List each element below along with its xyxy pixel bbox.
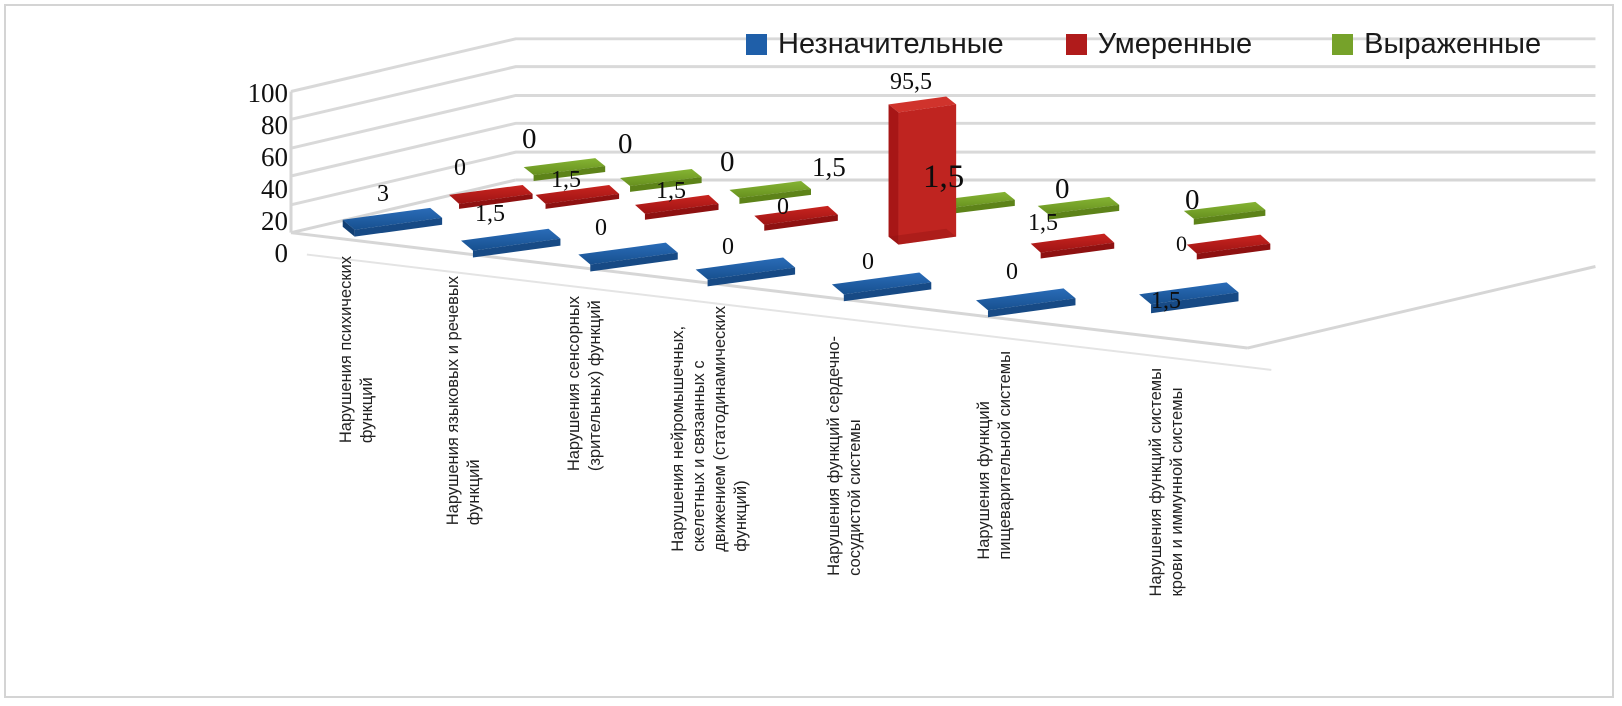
data-value-label: 0 bbox=[1176, 233, 1187, 255]
category-label-6: Нарушения функций системыкрови и иммунно… bbox=[1146, 368, 1188, 597]
y-tick-3: 40 bbox=[202, 176, 288, 203]
legend-item-0[interactable]: Незначительные bbox=[746, 30, 1004, 59]
data-value-label: 1,5 bbox=[475, 202, 505, 226]
category-label-0: Нарушения психическихфункций bbox=[336, 256, 378, 443]
data-value-label: 0 bbox=[522, 125, 537, 154]
y-tick-4: 20 bbox=[202, 208, 288, 235]
bar-c7-red bbox=[1187, 235, 1271, 260]
data-value-label: 0 bbox=[1006, 260, 1018, 284]
data-value-label: 0 bbox=[454, 156, 466, 180]
data-value-label: 0 bbox=[720, 148, 735, 177]
data-value-label: 1,5 bbox=[656, 179, 686, 203]
legend-item-2[interactable]: Выраженные bbox=[1332, 30, 1541, 59]
legend-item-1[interactable]: Умеренные bbox=[1066, 30, 1252, 59]
data-value-label: 1,5 bbox=[1151, 289, 1181, 313]
category-label-line: Нарушения психических bbox=[336, 256, 357, 443]
category-label-line: Нарушения сенсорных bbox=[564, 296, 585, 471]
category-label-4: Нарушения функций сердечно-сосудистой си… bbox=[824, 336, 866, 576]
category-label-line: функций bbox=[464, 276, 485, 525]
bar-c2-blue bbox=[461, 229, 560, 258]
legend-swatch-icon-2 bbox=[1332, 34, 1353, 55]
data-value-label: 95,5 bbox=[890, 70, 932, 94]
legend-swatch-icon-1 bbox=[1066, 34, 1087, 55]
category-label-line: Нарушения функций bbox=[974, 351, 995, 560]
bar-c1-blue bbox=[343, 208, 442, 237]
data-value-label: 0 bbox=[722, 235, 734, 259]
category-label-3: Нарушения нейромышечных,скелетных и связ… bbox=[668, 306, 752, 552]
data-value-label: 0 bbox=[618, 130, 633, 159]
category-label-line: пищеварительной системы bbox=[995, 351, 1016, 560]
category-label-line: движением (статодинамических bbox=[710, 306, 731, 552]
category-label-line: Нарушения функций системы bbox=[1146, 368, 1167, 597]
category-label-5: Нарушения функцийпищеварительной системы bbox=[974, 351, 1016, 560]
legend-label-0: Незначительные bbox=[778, 30, 1004, 59]
y-tick-2: 60 bbox=[202, 144, 288, 171]
category-label-line: функций bbox=[357, 256, 378, 443]
bar-c6-blue bbox=[976, 288, 1075, 317]
category-label-line: (зрительных) функций bbox=[585, 296, 606, 471]
bar-c3-blue bbox=[578, 243, 677, 272]
data-value-label: 0 bbox=[1055, 175, 1070, 204]
data-value-label: 0 bbox=[777, 195, 789, 219]
data-value-label: 1,5 bbox=[551, 168, 581, 192]
bar-c6-red bbox=[1031, 234, 1115, 259]
data-value-label: 1,5 bbox=[1028, 211, 1058, 235]
category-label-2: Нарушения сенсорных(зрительных) функций bbox=[564, 296, 606, 471]
bar-c4-blue bbox=[696, 258, 795, 287]
data-value-label: 0 bbox=[862, 250, 874, 274]
y-tick-0: 100 bbox=[202, 80, 288, 107]
chart-legend: Незначительные Умеренные Выраженные bbox=[746, 30, 1541, 59]
y-tick-5: 0 bbox=[202, 240, 288, 267]
bar-c5-blue bbox=[832, 272, 931, 301]
data-value-label: 0 bbox=[1185, 186, 1200, 215]
data-value-label: 0 bbox=[595, 216, 607, 240]
category-label-line: Нарушения функций сердечно- bbox=[824, 336, 845, 576]
category-label-line: функций) bbox=[731, 306, 752, 552]
y-tick-1: 80 bbox=[202, 112, 288, 139]
legend-label-2: Выраженные bbox=[1364, 30, 1541, 59]
category-label-line: сосудистой системы bbox=[845, 336, 866, 576]
data-value-label: 1,5 bbox=[923, 161, 964, 194]
bar-c4-green bbox=[729, 181, 811, 204]
legend-label-1: Умеренные bbox=[1098, 30, 1252, 59]
category-label-line: скелетных и связанных с bbox=[689, 306, 710, 552]
category-label-line: Нарушения нейромышечных, bbox=[668, 306, 689, 552]
chart-frame: Незначительные Умеренные Выраженные 100 … bbox=[4, 4, 1614, 698]
bar-c4-red bbox=[754, 206, 838, 231]
data-value-label: 1,5 bbox=[812, 154, 846, 181]
legend-swatch-icon-0 bbox=[746, 34, 767, 55]
data-value-label: 3 bbox=[377, 182, 389, 206]
y-axis-tick-labels: 100 80 60 40 20 0 bbox=[202, 80, 288, 267]
category-label-line: крови и иммунной системы bbox=[1167, 368, 1188, 597]
category-label-1: Нарушения языковых и речевыхфункций bbox=[443, 276, 485, 525]
category-label-line: Нарушения языковых и речевых bbox=[443, 276, 464, 525]
